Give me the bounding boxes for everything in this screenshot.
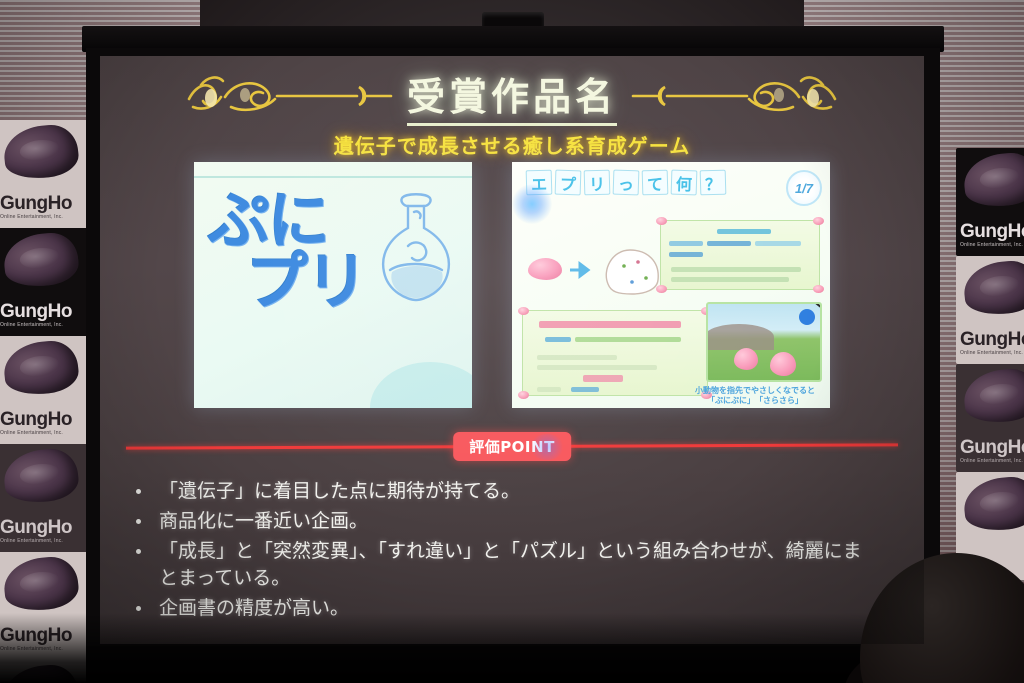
banner-brand: GungHo xyxy=(0,302,100,321)
wordmark-line-1: ぷに xyxy=(208,192,398,249)
evaluation-points-list: 「遺伝子」に着目した点に期待が持てる。 商品化に一番近い企画。 「成長」と「突然… xyxy=(136,478,924,622)
pin-icon xyxy=(813,217,824,225)
wordmark-line-2: プリ xyxy=(246,253,398,310)
hill-silhouette xyxy=(706,324,774,350)
pin-icon xyxy=(813,285,824,293)
banner-tagline: Online Entertainment, Inc. xyxy=(0,215,100,220)
banner-panel: GungHo Online Entertainment, Inc. xyxy=(956,148,1024,256)
page-title: 受賞作品名 xyxy=(407,66,617,126)
screen-frame: 受賞作品名 xyxy=(86,48,940,676)
white-blob-creature-icon xyxy=(598,242,666,300)
banner-tagline: Online Entertainment, Inc. xyxy=(960,459,1024,464)
pin-icon xyxy=(518,391,529,399)
status-badge: 評価POINT xyxy=(453,432,571,461)
room-scene: GungHo Online Entertainment, Inc. GungHo… xyxy=(0,0,1024,683)
banner-tagline: Online Entertainment, Inc. xyxy=(0,539,100,544)
gungho-blob-logo-icon xyxy=(961,150,1024,209)
evolution-diagram xyxy=(528,240,668,306)
list-item: 商品化に一番近い企画。 xyxy=(136,508,924,535)
document-content-box xyxy=(522,310,708,396)
caption-line-1: 小動物を指先でやさしくなでると xyxy=(682,386,828,396)
pink-creature-icon xyxy=(528,258,562,280)
list-item-text: 「遺伝子」に着目した点に期待が持てる。 xyxy=(159,478,520,505)
banner-brand: GungHo xyxy=(960,330,1024,349)
gungho-blob-logo-icon xyxy=(1,554,80,613)
banner-brand: GungHo xyxy=(0,194,100,213)
pin-icon xyxy=(656,285,667,293)
headline-char: て xyxy=(642,170,669,196)
game-title-wordmark: ぷに プリ xyxy=(208,192,398,382)
bullet-icon xyxy=(136,489,141,494)
document-headline: エ プ リ っ て 何 ？ xyxy=(526,170,822,195)
evolution-arrow-icon xyxy=(568,260,594,280)
gungho-blob-logo-icon xyxy=(961,474,1024,533)
banner-tagline: Online Entertainment, Inc. xyxy=(960,351,1024,356)
page-indicator-badge: 1/7 xyxy=(786,170,822,206)
projected-slide: 受賞作品名 xyxy=(100,56,924,644)
headline-char: ？ xyxy=(700,170,727,196)
banner-panel: GungHo Online Entertainment, Inc. xyxy=(956,364,1024,472)
photo-caption: 小動物を指先でやさしくなでると 「ぷにぷに」 「さらさら」 xyxy=(682,386,828,406)
headline-char: っ xyxy=(613,170,640,196)
pin-icon xyxy=(518,307,529,315)
headline-char: リ xyxy=(584,170,611,196)
banner-brand: GungHo xyxy=(0,518,100,537)
list-item-text: 商品化に一番近い企画。 xyxy=(159,508,368,535)
banner-brand: GungHo xyxy=(960,222,1024,241)
gungho-banner-right: GungHo Online Entertainment, Inc. GungHo… xyxy=(956,148,1024,580)
stylus-badge-icon xyxy=(799,309,815,325)
headline-char: プ xyxy=(555,170,582,196)
list-item: 「遺伝子」に着目した点に期待が持てる。 xyxy=(136,478,924,505)
pink-creature-icon xyxy=(734,348,758,370)
title-row: 受賞作品名 xyxy=(100,66,924,126)
evaluation-divider: 評価POINT xyxy=(100,430,924,460)
title-artwork-panel: ぷに プリ xyxy=(194,162,472,408)
caption-line-2: 「ぷにぷに」 「さらさら」 xyxy=(682,396,828,406)
ornament-flourish-left-icon xyxy=(181,69,401,123)
slide-subtitle: 遺伝子で成長させる癒し系育成ゲーム xyxy=(100,130,924,159)
banner-panel: GungHo Online Entertainment, Inc. xyxy=(956,256,1024,364)
artwork-top-rule xyxy=(194,176,472,178)
gungho-blob-logo-icon xyxy=(961,258,1024,317)
gungho-blob-logo-icon xyxy=(1,230,80,289)
bullet-icon xyxy=(136,606,141,611)
gungho-blob-logo-icon xyxy=(1,338,80,397)
banner-tagline: Online Entertainment, Inc. xyxy=(0,323,100,328)
banner-brand: GungHo xyxy=(960,438,1024,457)
headline-char: エ xyxy=(526,170,553,196)
projector-screen: 受賞作品名 xyxy=(78,12,950,683)
slide-header: 受賞作品名 xyxy=(100,56,924,160)
gameplay-screenshot-thumbnail xyxy=(706,302,822,382)
banner-tagline: Online Entertainment, Inc. xyxy=(0,431,100,436)
document-content-box xyxy=(660,220,820,290)
pink-creature-icon xyxy=(770,352,796,376)
gungho-blob-logo-icon xyxy=(1,446,80,505)
list-item: 「成長」と「突然変異」、「すれ違い」と「パズル」という組み合わせが、綺麗にまとま… xyxy=(136,538,924,592)
design-document-panel: エ プ リ っ て 何 ？ 1/7 xyxy=(512,162,830,408)
list-item-text: 「成長」と「突然変異」、「すれ違い」と「パズル」という組み合わせが、綺麗にまとま… xyxy=(159,538,879,592)
gungho-blob-logo-icon xyxy=(961,366,1024,425)
ornament-flourish-right-icon xyxy=(623,69,843,123)
headline-char: 何 xyxy=(671,170,698,196)
bullet-icon xyxy=(136,549,141,554)
banner-brand: GungHo xyxy=(0,410,100,429)
banner-tagline: Online Entertainment, Inc. xyxy=(960,243,1024,248)
bullet-icon xyxy=(136,519,141,524)
pin-icon xyxy=(656,217,667,225)
gungho-blob-logo-icon xyxy=(1,122,80,181)
slide-image-panels: ぷに プリ エ プ リ っ て 何 xyxy=(100,162,924,408)
